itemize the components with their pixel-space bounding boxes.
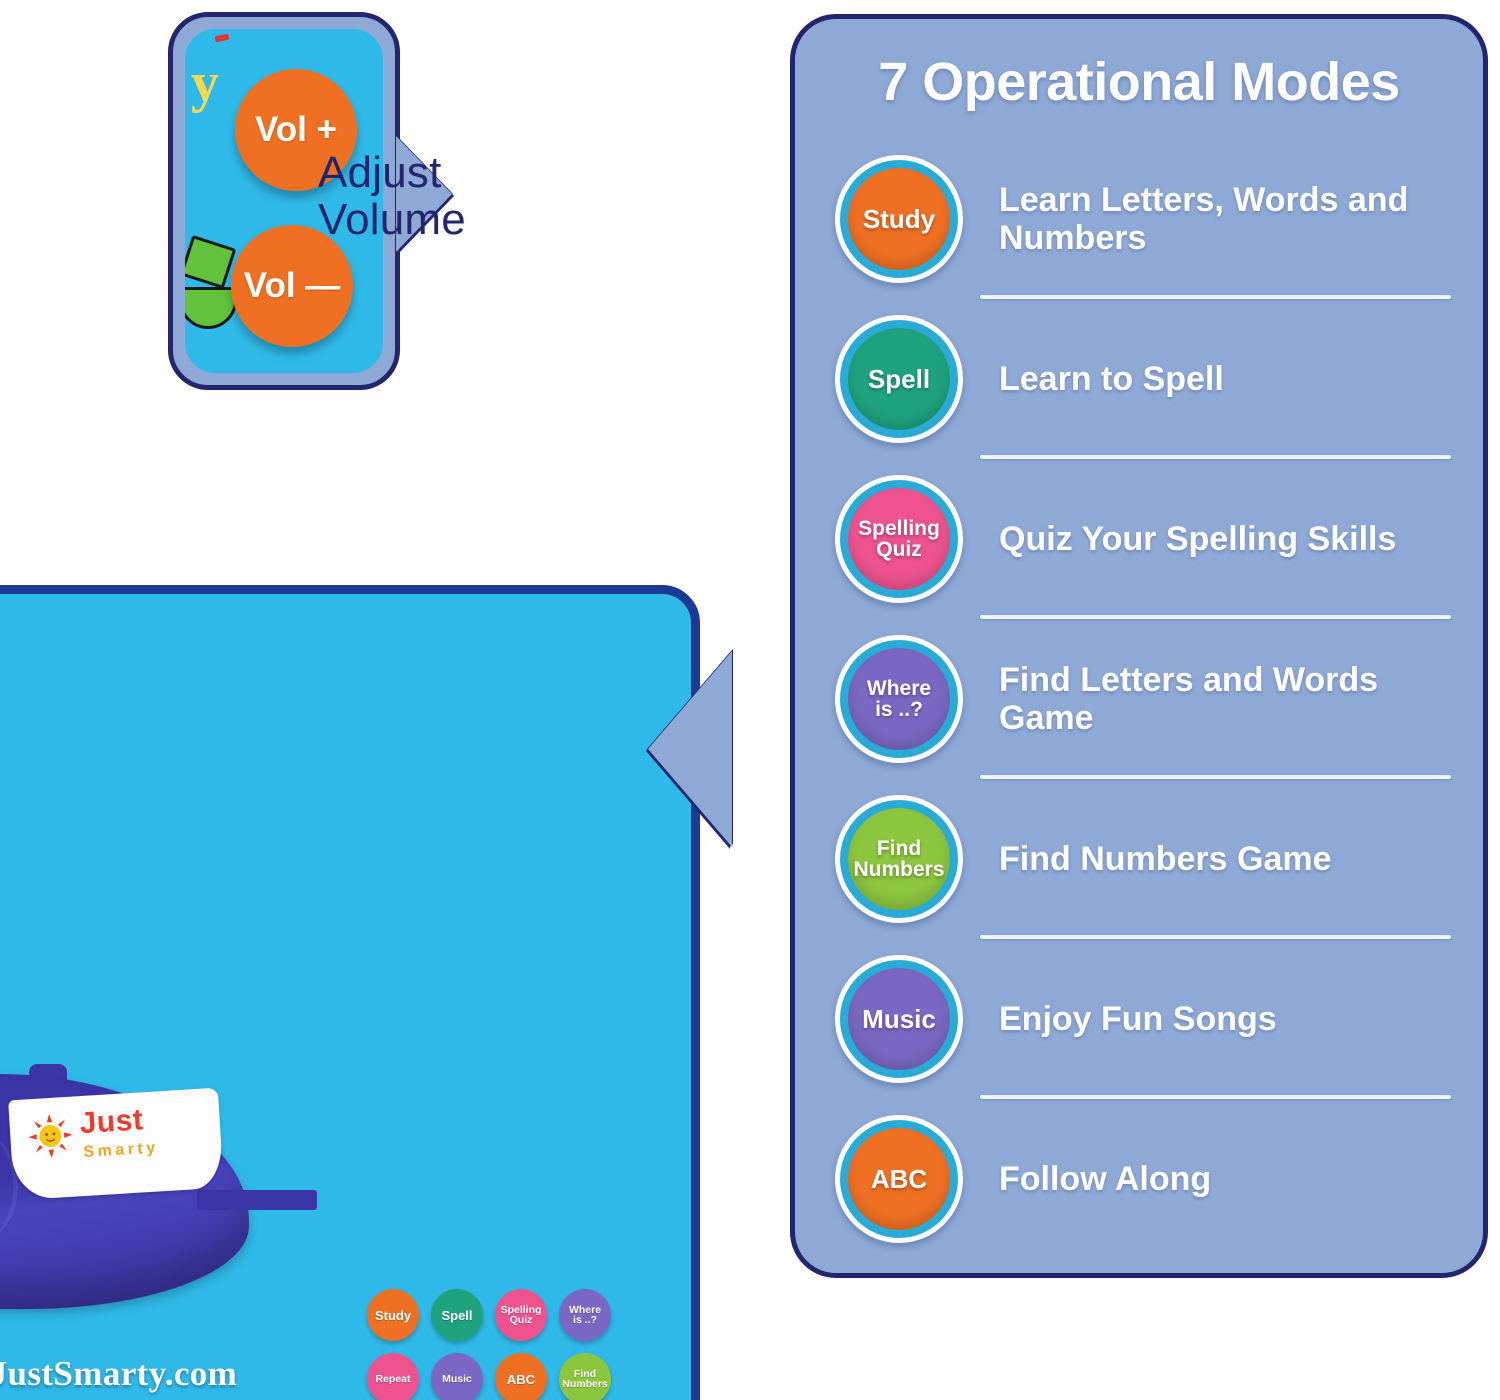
mode-description-find-numbers: Find Numbers Game xyxy=(999,840,1483,878)
mode-description-study: Learn Letters, Words and Numbers xyxy=(999,181,1483,257)
mode-description-music: Enjoy Fun Songs xyxy=(999,1000,1483,1038)
mode-icon-where-is: Whereis ..? xyxy=(835,635,963,763)
product-button-music[interactable]: Music xyxy=(431,1353,483,1400)
mode-icon-find-numbers: FindNumbers xyxy=(835,795,963,923)
modes-panel-pointer-icon xyxy=(648,651,732,847)
board-surface: ww.JustSmarty.com Study Spell SpellingQu… xyxy=(0,594,691,1400)
mode-icon-label-study: Study xyxy=(863,206,935,233)
product-button-spelling-quiz-label: SpellingQuiz xyxy=(501,1305,542,1326)
product-button-spelling-quiz[interactable]: SpellingQuiz xyxy=(495,1289,547,1341)
mode-icon-disc-where-is: Whereis ..? xyxy=(848,648,950,750)
mode-row-find-numbers[interactable]: FindNumbers Find Numbers Game xyxy=(795,779,1483,939)
product-button-abc[interactable]: ABC xyxy=(495,1353,547,1400)
mode-icon-label-music: Music xyxy=(862,1006,936,1033)
volume-up-label: Vol + xyxy=(255,110,337,150)
product-button-study[interactable]: Study xyxy=(367,1289,419,1341)
mode-row-spelling-quiz[interactable]: SpellingQuiz Quiz Your Spelling Skills xyxy=(795,459,1483,619)
mode-row-study[interactable]: Study Learn Letters, Words and Numbers xyxy=(795,139,1483,299)
mode-icon-abc: ABC xyxy=(835,1115,963,1243)
decor-letter-y: y xyxy=(191,51,219,115)
operational-modes-panel: 7 Operational Modes Study Learn Letters,… xyxy=(790,14,1488,1278)
product-button-repeat-label: Repeat xyxy=(375,1374,410,1385)
decor-red-mark xyxy=(215,34,230,43)
mode-icon-disc-music: Music xyxy=(848,968,950,1070)
mode-icon-disc-spell: Spell xyxy=(848,328,950,430)
mode-icon-label-spelling-quiz: SpellingQuiz xyxy=(858,518,940,561)
brand-name: Just xyxy=(79,1103,145,1141)
mode-icon-disc-abc: ABC xyxy=(848,1128,950,1230)
product-button-where-is-label: Whereis ..? xyxy=(569,1305,601,1326)
mode-icon-study: Study xyxy=(835,155,963,283)
mode-description-abc: Follow Along xyxy=(999,1160,1483,1198)
modes-panel-title: 7 Operational Modes xyxy=(795,51,1483,113)
product-learning-board: ww.JustSmarty.com Study Spell SpellingQu… xyxy=(0,585,700,1400)
sun-icon xyxy=(27,1113,74,1160)
product-mode-button-pad: Study Spell SpellingQuiz Whereis ..? Rep… xyxy=(367,1289,637,1400)
mode-row-abc[interactable]: ABC Follow Along xyxy=(795,1099,1483,1259)
mode-icon-spelling-quiz: SpellingQuiz xyxy=(835,475,963,603)
mode-row-music[interactable]: Music Enjoy Fun Songs xyxy=(795,939,1483,1099)
product-button-spell-label: Spell xyxy=(441,1309,472,1322)
product-button-spell[interactable]: Spell xyxy=(431,1289,483,1341)
mode-row-spell[interactable]: Spell Learn to Spell xyxy=(795,299,1483,459)
product-button-repeat[interactable]: Repeat xyxy=(367,1353,419,1400)
adjust-volume-label-line1: Adjust xyxy=(318,150,466,197)
product-marketing-image: ww.JustSmarty.com Study Spell SpellingQu… xyxy=(0,0,1500,1400)
product-button-music-label: Music xyxy=(442,1374,472,1385)
adjust-volume-label: Adjust Volume xyxy=(318,150,466,243)
brand-subname: Smarty xyxy=(83,1139,159,1162)
mode-icon-spell: Spell xyxy=(835,315,963,443)
product-button-study-label: Study xyxy=(375,1309,411,1322)
product-button-abc-label: ABC xyxy=(507,1373,535,1386)
volume-down-label: Vol — xyxy=(244,266,341,306)
product-mode-row-bottom: Repeat Music ABC FindNumbers xyxy=(367,1353,637,1400)
product-button-find-numbers[interactable]: FindNumbers xyxy=(559,1353,611,1400)
mode-icon-label-where-is: Whereis ..? xyxy=(867,678,931,721)
handle-bar xyxy=(197,1190,317,1210)
product-mode-row-top: Study Spell SpellingQuiz Whereis ..? xyxy=(367,1289,637,1341)
modes-list: Study Learn Letters, Words and Numbers S… xyxy=(795,139,1483,1263)
product-website-text: ww.JustSmarty.com xyxy=(0,1354,237,1394)
product-button-find-numbers-label: FindNumbers xyxy=(562,1369,608,1390)
mode-icon-disc-study: Study xyxy=(848,168,950,270)
adjust-volume-label-line2: Volume xyxy=(318,197,466,244)
decor-green-shape-1 xyxy=(185,235,236,289)
decor-green-shape-2 xyxy=(185,287,237,329)
mode-icon-label-spell: Spell xyxy=(868,366,930,393)
mode-description-spell: Learn to Spell xyxy=(999,360,1483,398)
mode-description-spelling-quiz: Quiz Your Spelling Skills xyxy=(999,520,1483,558)
mode-icon-label-abc: ABC xyxy=(871,1166,927,1193)
mode-icon-disc-find-numbers: FindNumbers xyxy=(848,808,950,910)
mode-icon-music: Music xyxy=(835,955,963,1083)
mode-description-where-is: Find Letters and Words Game xyxy=(999,661,1483,737)
mode-icon-disc-spelling-quiz: SpellingQuiz xyxy=(848,488,950,590)
brand-logo-plate: Just Smarty xyxy=(8,1088,224,1201)
product-button-where-is[interactable]: Whereis ..? xyxy=(559,1289,611,1341)
mode-icon-label-find-numbers: FindNumbers xyxy=(853,838,944,881)
mode-row-where-is[interactable]: Whereis ..? Find Letters and Words Game xyxy=(795,619,1483,779)
